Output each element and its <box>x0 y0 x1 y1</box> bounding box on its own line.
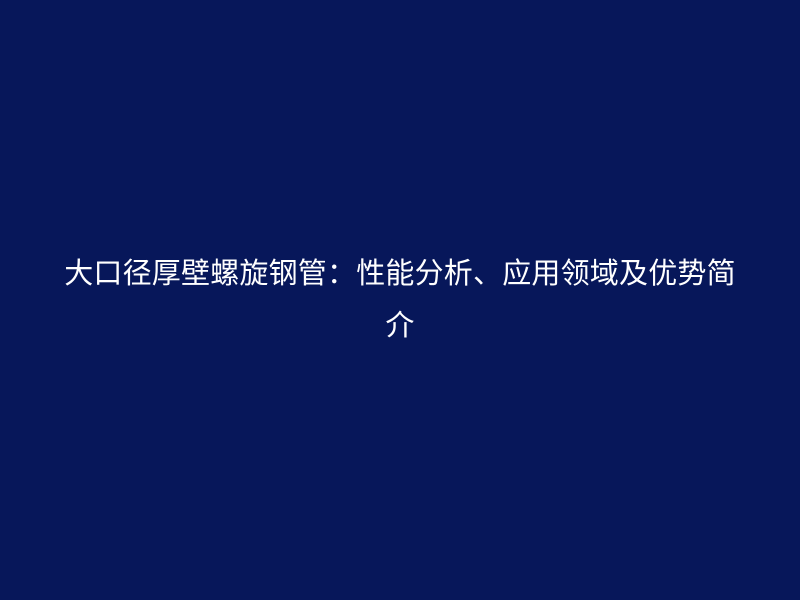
title-block: 大口径厚壁螺旋钢管：性能分析、应用领域及优势简介 <box>50 248 750 352</box>
page-title: 大口径厚壁螺旋钢管：性能分析、应用领域及优势简介 <box>54 248 746 352</box>
title-slide-canvas: 大口径厚壁螺旋钢管：性能分析、应用领域及优势简介 <box>0 0 800 600</box>
